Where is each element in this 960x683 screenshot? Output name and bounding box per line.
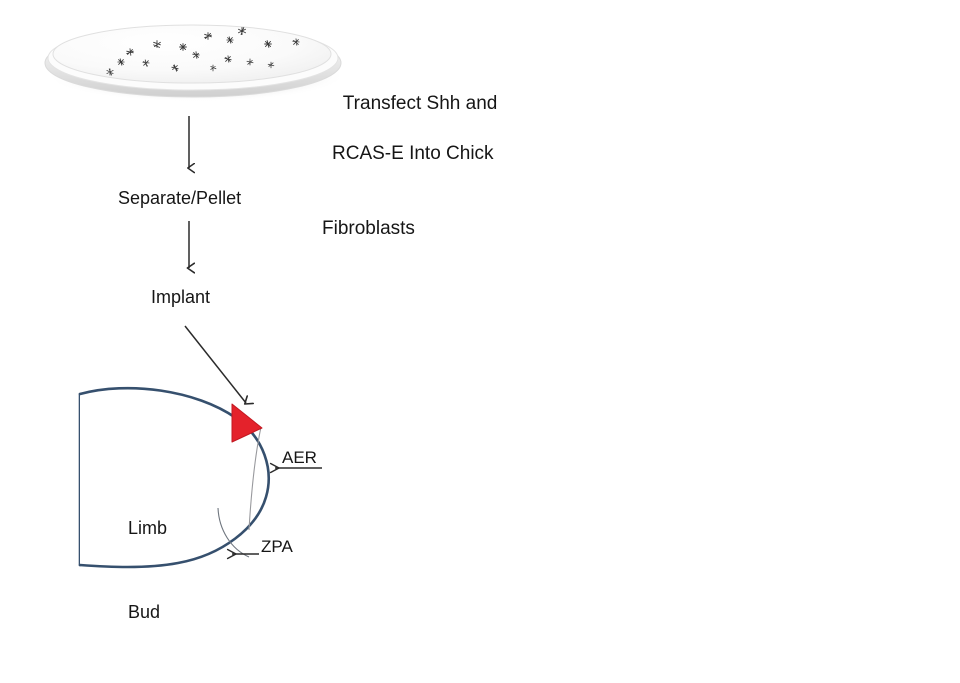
cell <box>180 44 187 51</box>
petri-dish <box>45 25 346 102</box>
aer-label: AER <box>282 447 317 469</box>
transfect-step-label: Transfect Shh and RCAS-E Into Chick Fibr… <box>322 66 497 292</box>
limb-bud-label-line-2: Bud <box>128 598 167 626</box>
diagram-canvas: Transfect Shh and RCAS-E Into Chick Fibr… <box>0 0 960 588</box>
zpa-label: ZPA <box>261 536 293 558</box>
dish-interior <box>53 25 331 83</box>
separate-pellet-label: Separate/Pellet <box>118 187 241 211</box>
transfect-line-3: Fibroblasts <box>322 216 497 241</box>
transfect-line-1: Transfect Shh and <box>343 93 498 114</box>
limb-bud-label-line-1: Limb <box>128 514 167 542</box>
transfect-line-2: RCAS-E Into Chick <box>322 141 497 166</box>
limb-bud-label: Limb Bud <box>128 458 167 683</box>
implant-label: Implant <box>151 286 210 310</box>
flow-arrows <box>185 116 246 403</box>
arrow-implant-to-pellet <box>185 326 246 403</box>
